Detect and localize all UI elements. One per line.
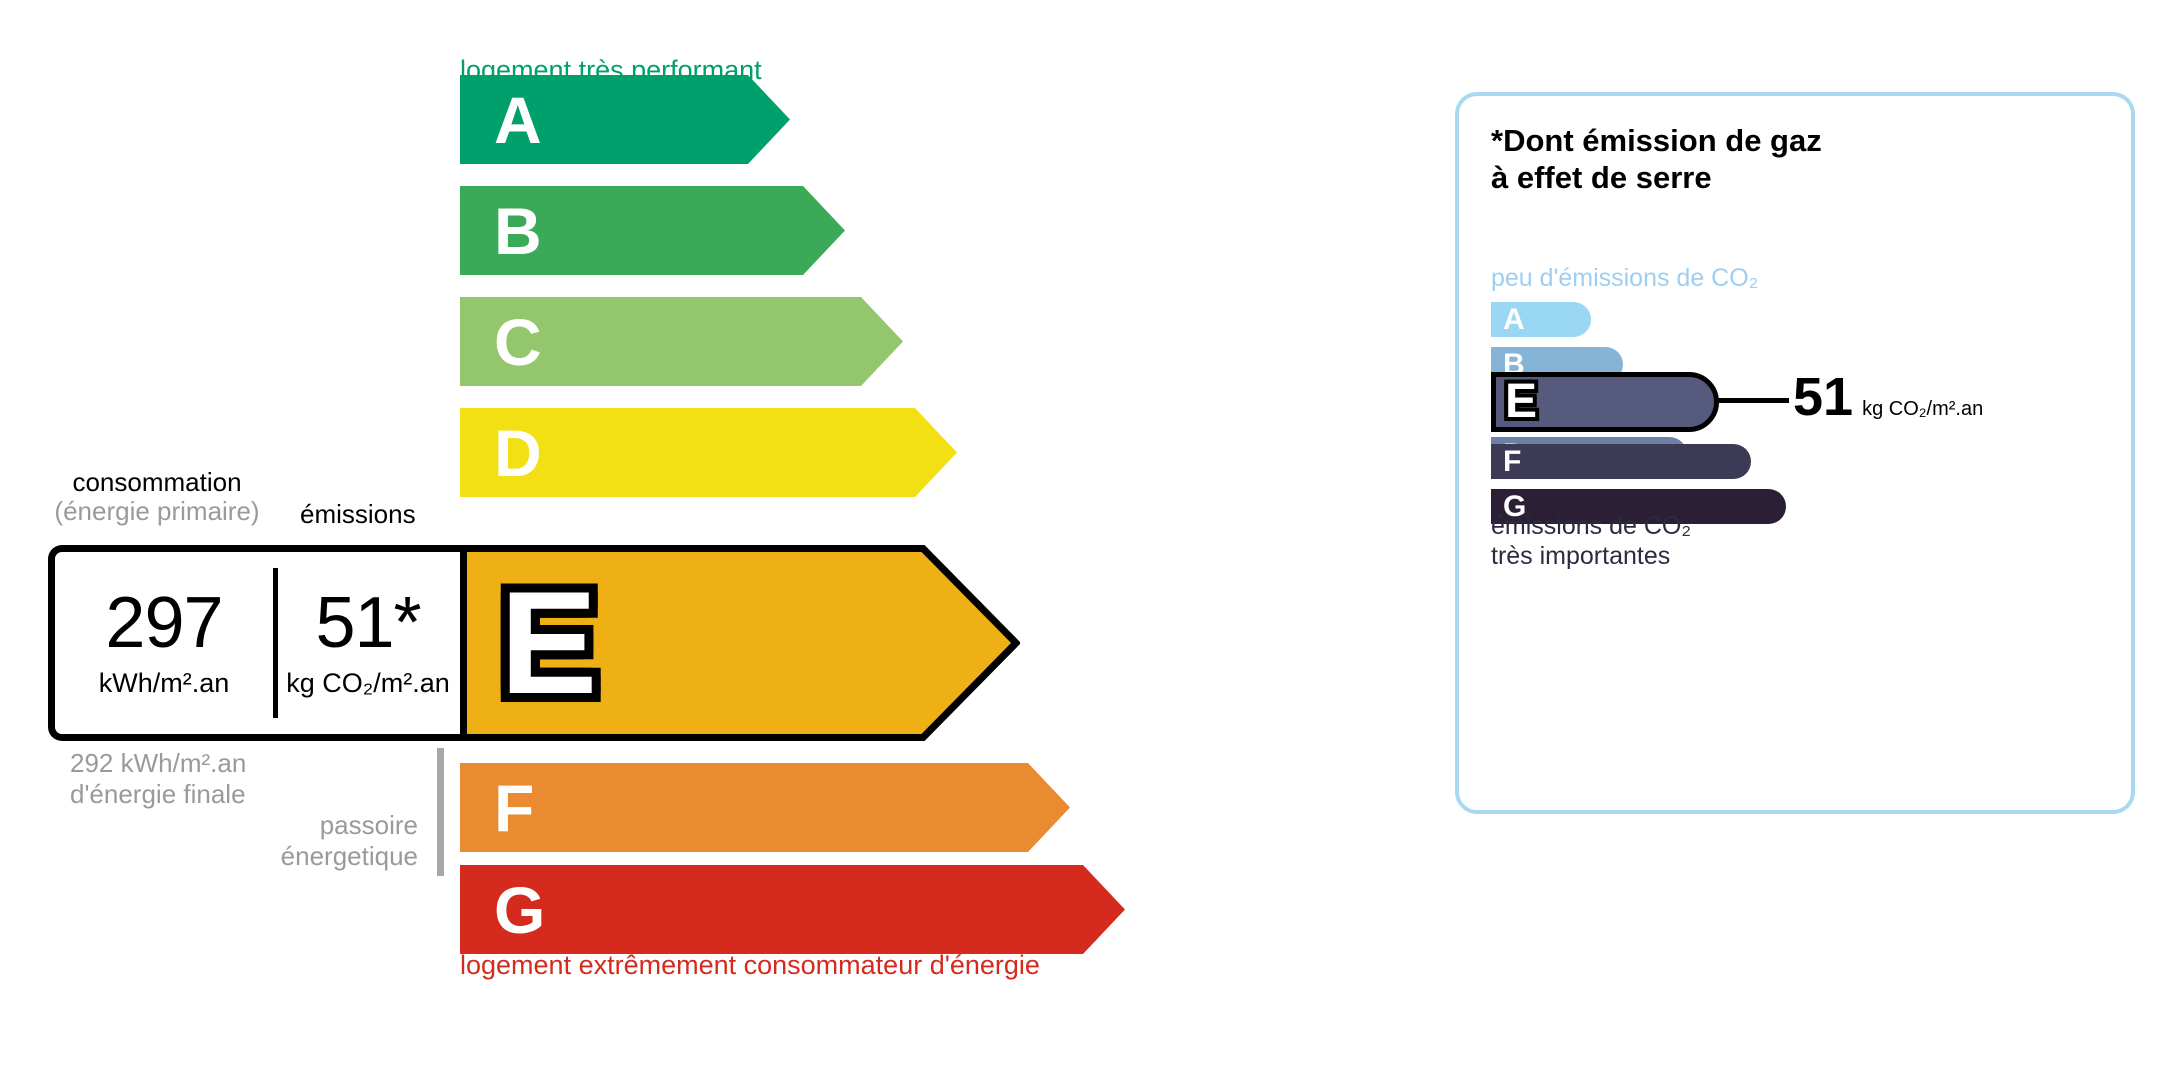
passoire-energetique-note: passoire énergetique (168, 810, 418, 871)
co2-emissions-panel: *Dont émission de gaz à effet de serre p… (1455, 92, 2135, 814)
passoire-divider (437, 748, 444, 876)
co2-band-f-letter: F (1503, 447, 1521, 477)
scale-caption-bottom: logement extrêmement consommateur d'éner… (460, 950, 1040, 981)
energy-band-c-letter: C (494, 309, 542, 375)
co2-panel-title: *Dont émission de gaz à effet de serre (1491, 122, 1822, 196)
energy-band-f-letter: F (494, 775, 534, 841)
final-energy-note: 292 kWh/m².an d'énergie finale (70, 748, 246, 809)
energy-band-d-letter: D (494, 420, 542, 486)
consumption-value: 297 (105, 587, 222, 659)
dpe-label: logement très performant A B C (0, 0, 2169, 1079)
energy-band-g-letter: G (494, 877, 545, 943)
emissions-value-cell: 51* kg CO₂/m².an (277, 552, 459, 734)
emissions-heading: émissions (300, 500, 416, 529)
energy-band-g-arrow (460, 865, 1125, 954)
consumption-heading-sub: (énergie primaire) (48, 497, 266, 526)
passoire-note-line1: passoire (320, 810, 418, 840)
emissions-unit: kg CO₂/m².an (286, 668, 450, 699)
energy-band-b-letter: B (494, 198, 542, 264)
energy-band-a-letter: A (494, 87, 542, 153)
emissions-value: 51* (315, 587, 420, 659)
energy-band-e-letter: E (500, 570, 597, 716)
consumption-value-cell: 297 kWh/m².an (55, 552, 273, 734)
consumption-heading-main: consommation (72, 467, 241, 497)
consumption-unit: kWh/m².an (99, 668, 230, 699)
co2-panel-title-line2: à effet de serre (1491, 160, 1712, 195)
co2-callout-value-number: 51 (1793, 370, 1853, 424)
co2-caption-bottom-line1: émissions de CO₂ (1491, 512, 1691, 540)
co2-caption-top: peu d'émissions de CO₂ (1491, 264, 1758, 293)
consumption-heading: consommation (énergie primaire) (48, 468, 266, 526)
co2-callout-unit: kg CO₂/m².an (1862, 398, 1983, 421)
co2-panel-title-line1: *Dont émission de gaz (1491, 123, 1822, 158)
co2-caption-bottom-line2: très importantes (1491, 542, 1670, 570)
final-energy-note-line1: 292 kWh/m².an (70, 748, 246, 778)
value-box: 297 kWh/m².an 51* kg CO₂/m².an (48, 545, 460, 741)
co2-callout: 51 kg CO₂/m².an (1793, 370, 1983, 424)
passoire-note-line2: énergetique (281, 841, 418, 871)
co2-band-f-bar (1491, 444, 1751, 479)
final-energy-note-line2: d'énergie finale (70, 779, 246, 809)
co2-band-a-letter: A (1503, 305, 1525, 335)
energy-band-f-arrow (460, 763, 1070, 852)
co2-callout-line (1717, 398, 1789, 403)
energy-consumption-scale: logement très performant A B C (0, 0, 1400, 1079)
co2-caption-bottom: émissions de CO₂ très importantes (1491, 511, 1691, 571)
co2-band-e-letter: E (1505, 378, 1537, 426)
